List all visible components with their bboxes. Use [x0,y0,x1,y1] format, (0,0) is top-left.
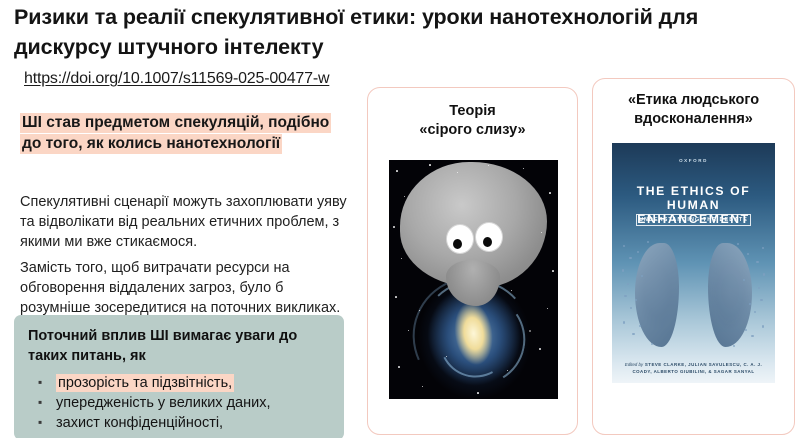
body-paragraph-1: Спекулятивні сценарії можуть захоплювати… [20,192,350,252]
page-title: Ризики та реалії спекулятивної етики: ур… [14,2,766,62]
pupil-left [453,239,462,249]
lead-statement: ШІ став предметом спекуляцій, подібно до… [20,112,340,154]
list-item: етичне використання та розкриття [28,433,332,438]
callout-box: Поточний вплив ШІ вимагає уваги до таких… [14,315,344,438]
googly-eye-right [475,222,503,252]
book-editors-line-1: STEVE CLARKE, JULIAN SAVULESCU, [645,362,742,367]
book-cover-editors: Edited by STEVE CLARKE, JULIAN SAVULESCU… [620,362,767,375]
list-item: упередженість у великих даних, [28,393,332,413]
particle-cloud-right [704,235,766,357]
lead-statement-text: ШІ став предметом спекуляцій, подібно до… [20,113,331,154]
list-item-label: прозорість та підзвітність, [56,374,234,392]
card-grey-goo: Теорія «сірого слизу» [367,87,578,435]
slide-canvas: Ризики та реалії спекулятивної етики: ур… [0,0,800,438]
pixelated-face-right [704,235,766,357]
googly-eye-left [446,224,474,254]
book-editors-prefix: Edited by [625,362,643,367]
particle-cloud-left [621,235,683,357]
book-cover-image: OXFORD THE ETHICS OF HUMAN ENHANCEMENT U… [612,143,775,383]
callout-list: прозорість та підзвітність, упередженіст… [28,373,332,438]
card-grey-goo-title: Теорія «сірого слизу» [368,102,577,140]
pixelated-face-left [621,235,683,357]
body-paragraph-2: Замість того, щоб витрачати ресурси на о… [20,258,356,318]
list-item-label: захист конфіденційності, [56,415,223,431]
card-title-line-1: «Етика людського [593,91,794,110]
doi-link[interactable]: https://doi.org/10.1007/s11569-025-00477… [24,69,329,89]
card-human-enhancement-title: «Етика людського вдосконалення» [593,91,794,129]
grey-goo-illustration [389,160,558,399]
book-publisher: OXFORD [612,158,775,163]
card-human-enhancement: «Етика людського вдосконалення» OXFORD T… [592,78,795,435]
card-title-line-2: вдосконалення» [593,110,794,129]
list-item: захист конфіденційності, [28,413,332,433]
list-item-label: упередженість у великих даних, [56,395,271,411]
callout-heading: Поточний вплив ШІ вимагає уваги до таких… [28,326,332,366]
book-cover-subtitle: UNDERSTANDING THE DEBATE [636,214,751,226]
list-item: прозорість та підзвітність, [28,373,332,393]
card-title-line-1: Теорія [368,102,577,121]
card-title-line-2: «сірого слизу» [368,121,577,140]
pupil-right [483,237,492,247]
